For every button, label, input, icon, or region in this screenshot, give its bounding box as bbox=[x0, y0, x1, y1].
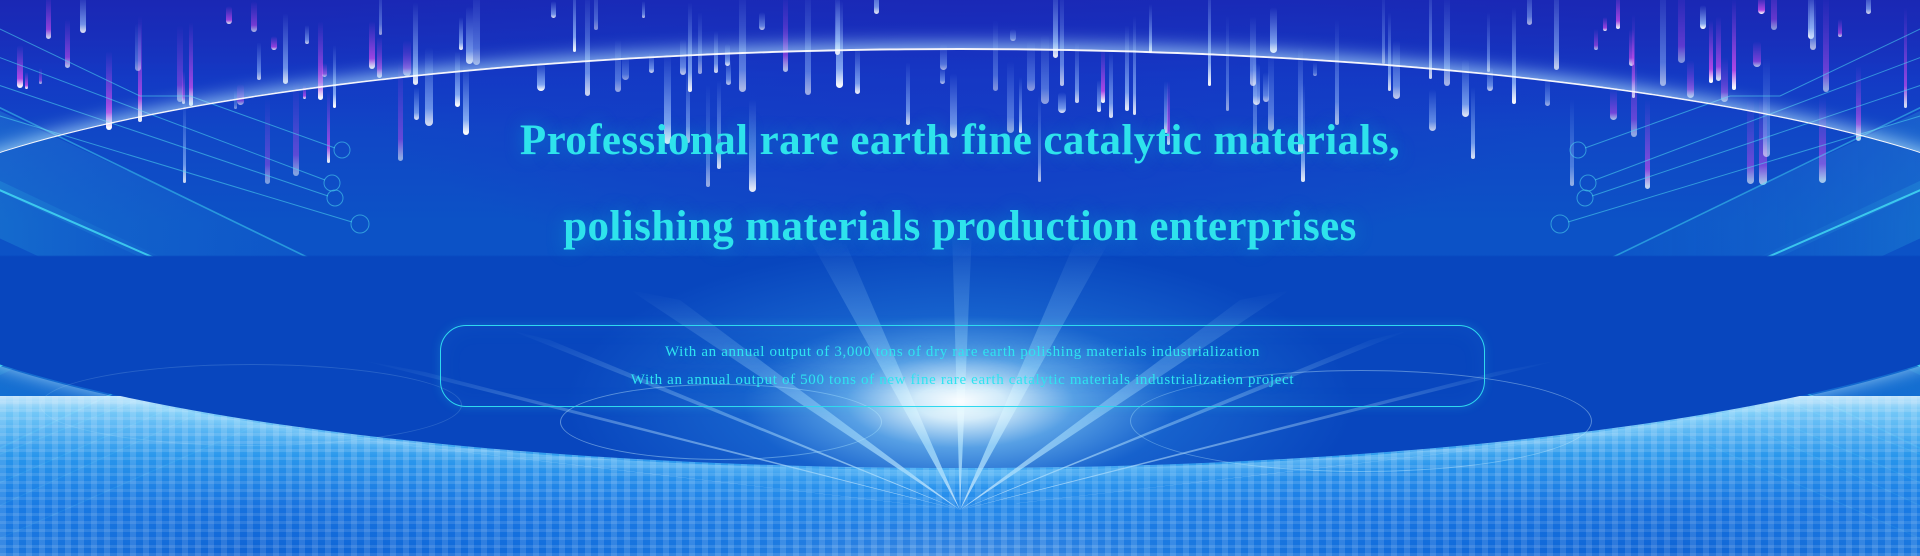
subtitle-box: With an annual output of 3,000 tons of d… bbox=[440, 325, 1485, 407]
subtitle-line-2: With an annual output of 500 tons of new… bbox=[631, 366, 1294, 394]
hero-banner: Professional rare earth fine catalytic m… bbox=[0, 0, 1920, 556]
subtitle-line-1: With an annual output of 3,000 tons of d… bbox=[665, 338, 1260, 366]
headline-line-1: Professional rare earth fine catalytic m… bbox=[0, 116, 1920, 165]
banner-content: Professional rare earth fine catalytic m… bbox=[0, 0, 1920, 556]
headline-line-2: polishing materials production enterpris… bbox=[0, 202, 1920, 251]
